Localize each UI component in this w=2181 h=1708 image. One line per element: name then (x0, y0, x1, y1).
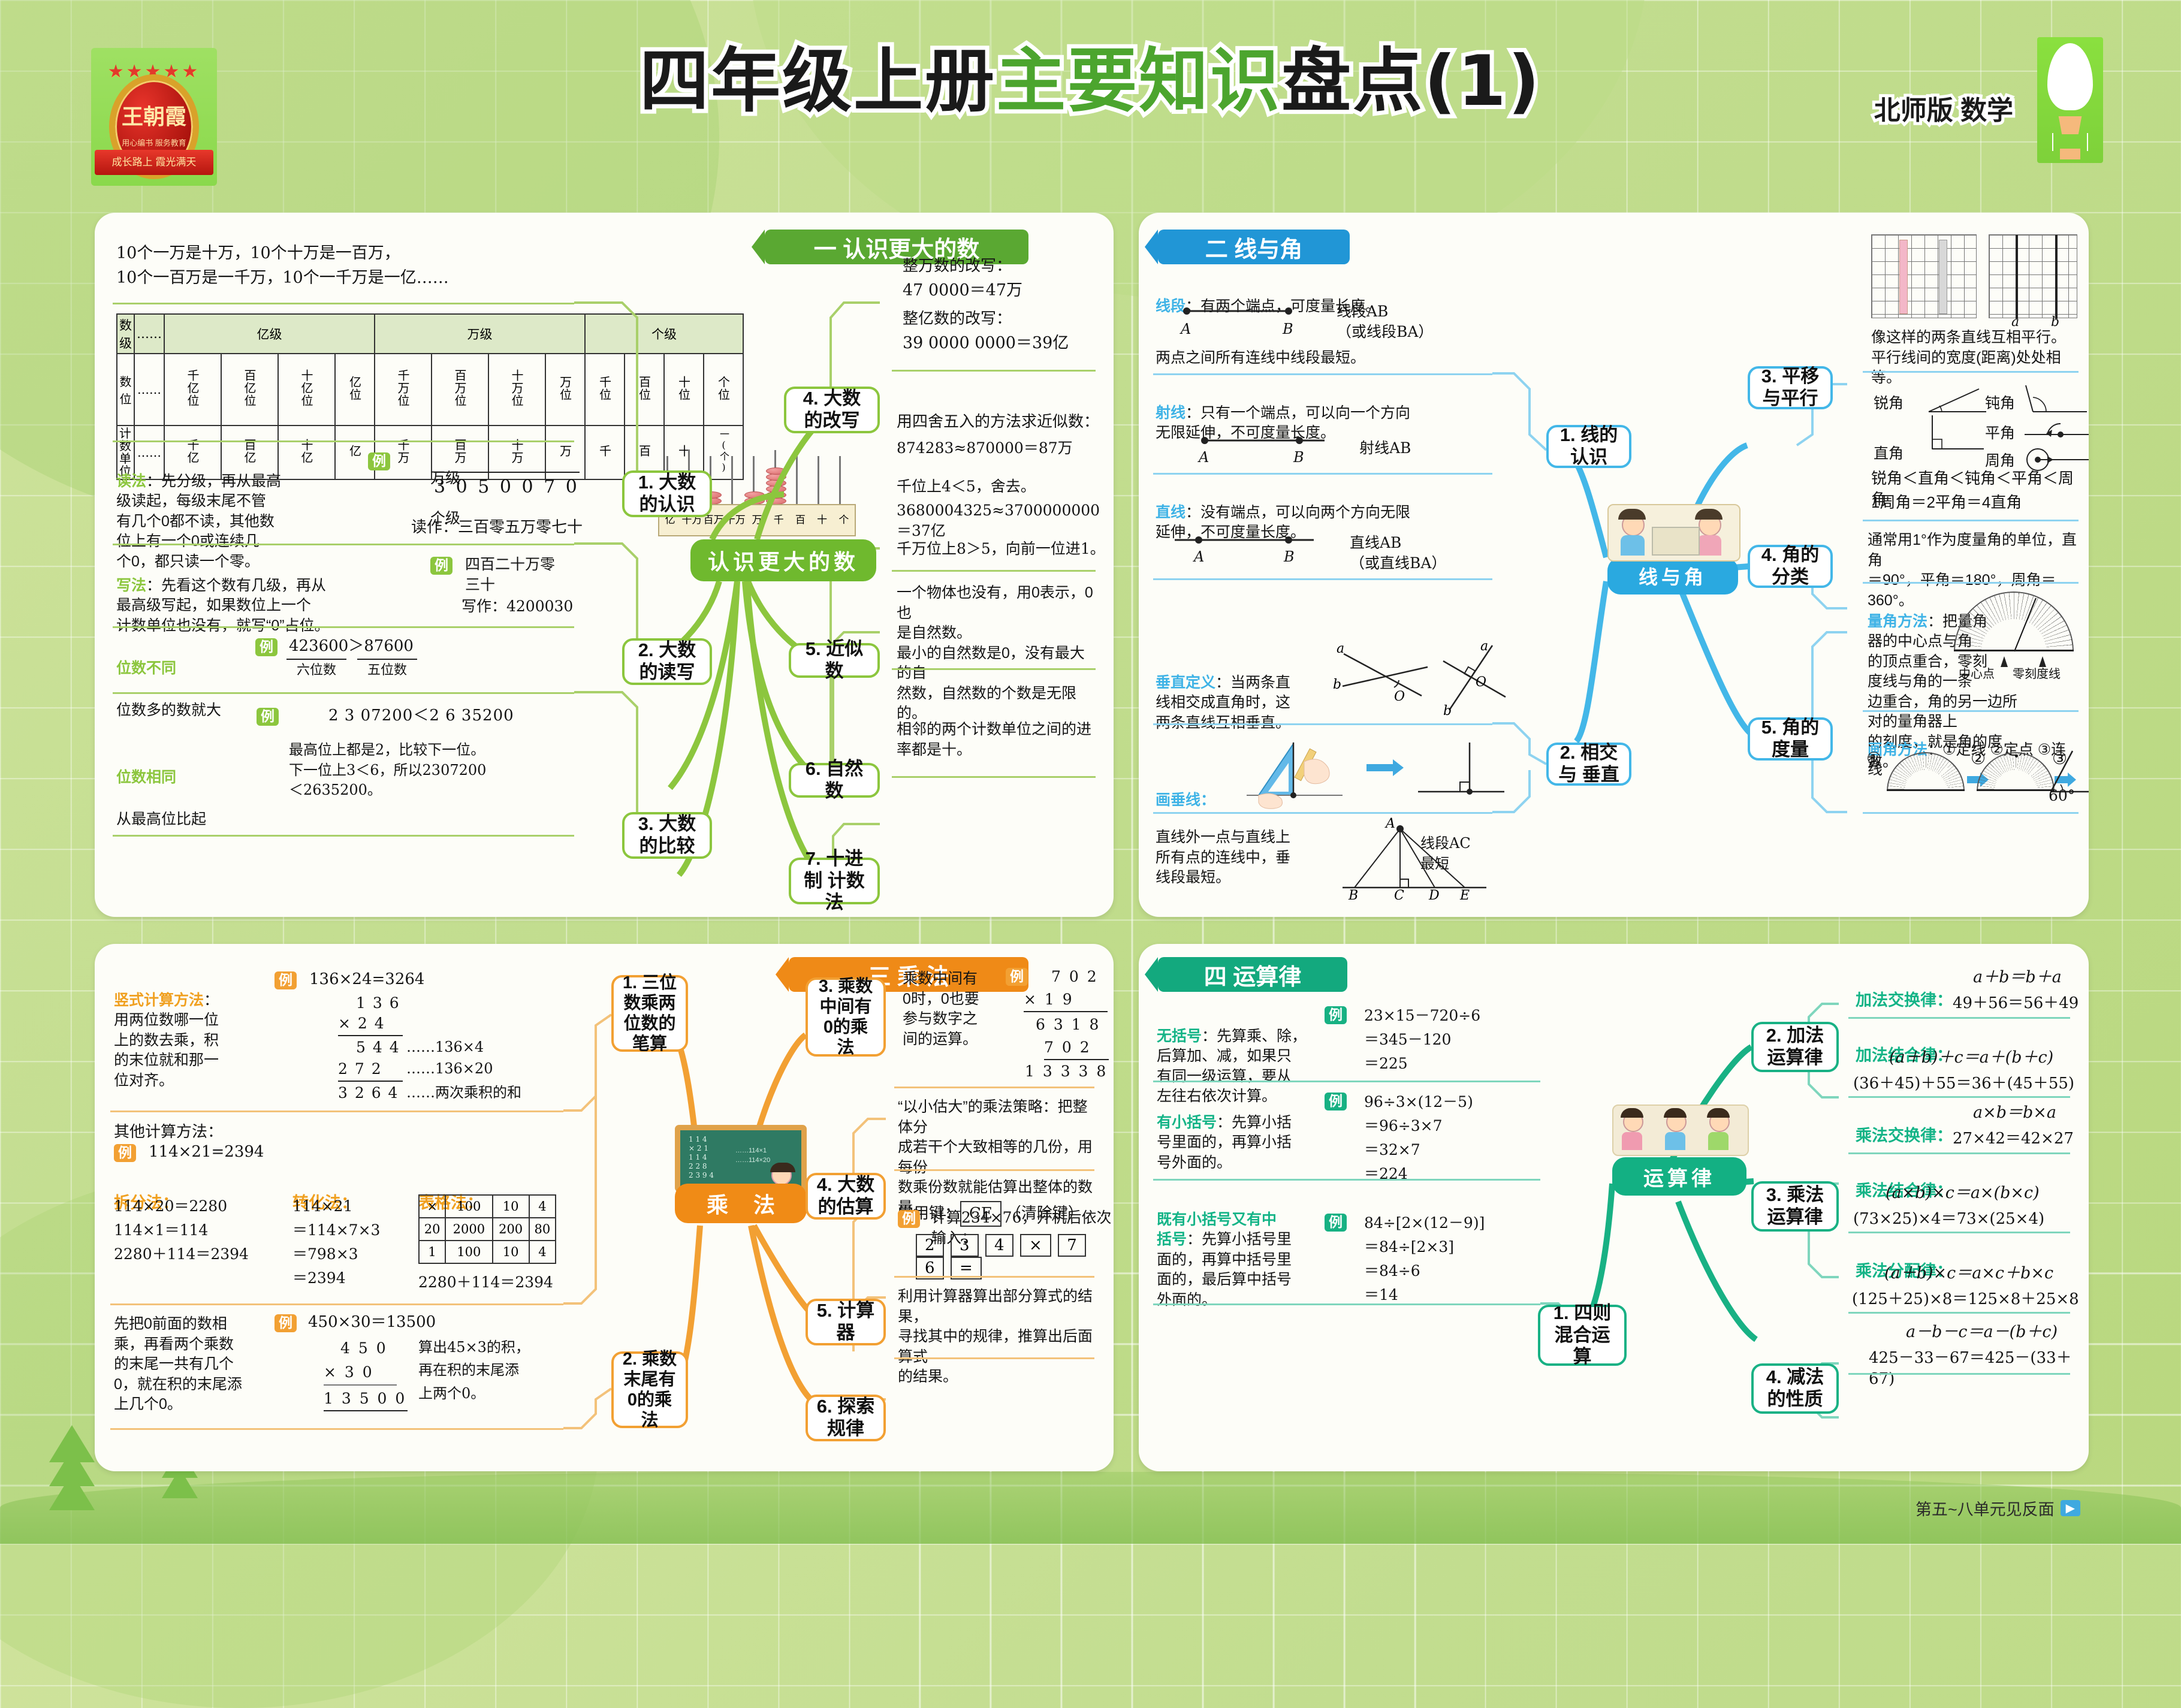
law-1-formula: (a＋b)＋c＝a＋(b＋c) (1889, 1047, 2053, 1069)
tz-line-1: 4 5 0 (340, 1338, 388, 1359)
law-3-formula: (a×b)×c＝a×(b×c) (1886, 1182, 2040, 1204)
write-method-body: ：先看这个数有几级，再从 最高级写起，如果数位上一个 计数单位也没有，就写“0”… (116, 577, 330, 634)
middle-zero-body: 乘数中间有 0时，0也要 参与数字之 间的运算。 (903, 969, 1016, 1049)
pv-digit-6: 十万位 (508, 369, 526, 407)
board-line-4: 2 2 8 (689, 1162, 714, 1171)
law-3-example: (73×25)×4＝73×(25×4) (1853, 1209, 2044, 1230)
line-name: 直线AB （或直线BA） (1350, 533, 1446, 574)
calculator-example-badge: 例 (898, 1210, 920, 1228)
rewrite-title-1: 整万数的改写： (903, 256, 1012, 277)
no-paren-example: 23×15－720÷6 ＝345－120 ＝225 (1364, 1004, 1480, 1076)
board-line-2: × 2 1 (689, 1144, 714, 1153)
compare-diff-body: 位数多的数就大 (116, 702, 221, 719)
pattern-rule: 利用计算器算出部分算式的结果， 寻找其中的规律，推算出后面算式 的结果。 (898, 1287, 1098, 1387)
pv-digit-9: 百位 (636, 376, 653, 401)
panel4-hub: 运算律 (1612, 1157, 1746, 1196)
no-paren-keyword: 无括号 (1157, 1028, 1202, 1045)
node-p4-1[interactable]: 1. 四则 混合运 算 (1538, 1305, 1627, 1366)
approx-line-1: 874283≈870000＝87万 (897, 438, 1073, 458)
calculator-key-sequence: 2 3 4 × 7 6 = (916, 1234, 1114, 1280)
tm-h0: × (419, 1195, 445, 1218)
node-p2-5[interactable]: 5. 角的 度量 (1748, 717, 1833, 761)
natural-number-text: 一个物体也没有，用0表示，0也 是自然数。 最小的自然数是0，没有最大的自 然数… (897, 583, 1099, 724)
tm-r1c2: 200 (493, 1218, 529, 1241)
vertical-note-4: ……136×20 (406, 1059, 493, 1078)
pv-digit-5: 百万位 (451, 369, 469, 407)
abacus-label-7: 十 (812, 505, 833, 535)
tm-r1c3: 80 (529, 1218, 556, 1241)
pv-dots-0: …… (134, 314, 164, 354)
node-p2-2[interactable]: 2. 相交与 垂直 (1546, 743, 1631, 786)
law-2-example: 27×42＝42×27 (1953, 1128, 2074, 1149)
vertical-line-1: 1 3 6 (356, 993, 400, 1013)
board-line-5: 2 3 9 4 (689, 1171, 714, 1180)
abacus-label-8: 个 (833, 505, 855, 535)
footer-arrow-icon: ▶ (2061, 1500, 2080, 1516)
rewrite-line-1: 47 0000＝47万 (903, 280, 1022, 301)
compare-same-keyword: 位数相同 (116, 769, 176, 786)
law-0-example: 49＋56＝56＋49 (1953, 993, 2079, 1014)
tm-h3: 4 (529, 1195, 556, 1218)
approx-note-1: 千位上4＜5，舍去。 (897, 476, 1036, 497)
board-line-1: 1 1 4 (689, 1135, 714, 1144)
transform-method-body: 114×21 ＝114×7×3 ＝798×3 ＝2394 (292, 1194, 380, 1290)
both-paren-badge: 例 (1325, 1214, 1347, 1232)
node-p4-2[interactable]: 2. 加法 运算律 (1751, 1022, 1839, 1072)
panel-lines-and-angles: 二 线与角 线段：有两个端点，可度量长度。 A B 线段AB （或线段BA） 两… (1139, 213, 2089, 917)
panel3-hub: 乘 法 (675, 1184, 807, 1223)
pv-digit-8: 千位 (596, 376, 614, 401)
svg-text:O: O (1476, 675, 1486, 690)
ray-label-b: B (1293, 448, 1304, 467)
pv-group-1: 万级 (375, 314, 585, 354)
write-method-keyword: 写法 (116, 577, 146, 594)
compare-same-digits: 位数相同 从最高位比起 (116, 746, 296, 830)
approx-line-2: 3680004325≈3700000000＝37亿 (897, 500, 1114, 541)
line-label-b: B (1284, 547, 1295, 566)
panel-operation-laws: 四 运算律 无括号：先算乘、除， 后算加、减，如果只 有同一级运算，要从 左往右… (1139, 944, 2089, 1471)
abacus-label-4: 万 (746, 505, 768, 535)
cmp2-expression: 2 3 07200＜2 6 35200 (328, 705, 514, 726)
abacus-label-6: 百 (789, 505, 811, 535)
segment-label-b: B (1283, 319, 1293, 339)
node-p4-4[interactable]: 4. 减法 的性质 (1751, 1363, 1839, 1414)
compare-diff-keyword: 位数不同 (116, 660, 176, 677)
svg-text:a: a (1480, 639, 1488, 654)
protractor-center-label: 中心点 (1959, 666, 1995, 682)
pv-group-0: 亿级 (164, 314, 375, 354)
draw-perp-label: 画垂线： (1156, 770, 1215, 810)
ray-body: ：只有一个端点，可以向一个方向 无限延伸，不可度量长度。 (1156, 405, 1410, 442)
node-p1-2[interactable]: 2. 大数 的读写 (622, 638, 712, 685)
rewrite-title-2: 整亿数的改写： (903, 309, 1012, 330)
table-method-grid: × 100 10 4 20 2000 200 80 1 100 10 4 (418, 1194, 556, 1264)
cmp1-expression: 423600＞87600 (289, 636, 414, 657)
pv-unit-7: 万 (557, 445, 574, 457)
svg-text:A: A (1384, 816, 1395, 831)
pv-digit-1: 百亿位 (241, 369, 258, 407)
pv-unit-8: 千 (596, 445, 614, 457)
calc-key-3[interactable]: × (1020, 1234, 1051, 1257)
draw-step-1-num: ① (1866, 747, 1881, 770)
law-0-name: 加法交换律： (1856, 968, 1953, 1011)
pv-group-2: 个级 (585, 314, 743, 354)
line-keyword: 直线 (1156, 504, 1185, 521)
trailing-zero-badge: 例 (274, 1314, 297, 1332)
segment-name: 线段AB （或线段BA） (1337, 301, 1433, 342)
footer-text: 第五~八单元见反面 (1915, 1496, 2055, 1520)
split-method-body: 114×20＝2280 114×1＝114 2280＋114＝2394 (114, 1194, 249, 1266)
read-eg-result: 读作：三百零五万零七十 (411, 517, 583, 538)
node-p1-3[interactable]: 3. 大数 的比较 (622, 812, 712, 859)
tm-r2c1: 100 (445, 1241, 492, 1263)
segment-keyword: 线段 (1156, 298, 1185, 315)
cmp1-sub-right: 五位数 (357, 659, 417, 679)
panel2-section-tag: 二 线与角 (1158, 230, 1350, 264)
tm-r2c2: 10 (493, 1241, 529, 1263)
students-illustration (1607, 504, 1740, 562)
node-p3-6[interactable]: 6. 探索 规律 (806, 1395, 886, 1441)
node-p3-3[interactable]: 3. 乘数 中间有 0的乘 法 (806, 977, 886, 1057)
panel-multiplication: 三 乘 法 竖式计算方法： 用两位数哪一位 上的数去乘，积 的末位就和那一 位对… (95, 944, 1114, 1471)
page-title: 四年级上册主要知识盘点(1) (0, 47, 2181, 116)
paren-badge: 例 (1325, 1093, 1347, 1110)
node-p1-5[interactable]: 5. 近似数 (789, 643, 880, 678)
approx-note-2: 千万位上8＞5，向前一位进1。 (897, 539, 1105, 559)
obtuse-angle-icon (2025, 384, 2089, 414)
svg-text:E: E (1459, 888, 1470, 903)
protractor-step-2 (1977, 752, 2055, 791)
perpendicular-diagram: a b O a b O (1332, 643, 1506, 721)
angle-right-label: 直角 (1874, 444, 1904, 464)
segment-label-a: A (1181, 319, 1191, 339)
svg-text:B: B (1348, 888, 1358, 903)
mz-line-5: 1 3 3 3 8 (1025, 1061, 1108, 1082)
tm-r1c1: 2000 (445, 1218, 492, 1241)
middle-zero-badge: 例 (1006, 968, 1028, 986)
vertical-example-badge: 例 (274, 971, 297, 989)
mz-line-4: 7 0 2 (1044, 1037, 1109, 1060)
paren-rule: 有小括号：先算小括 号里面的，再算小括 号外面的。 (1157, 1093, 1349, 1173)
trailing-zero-example: 450×30＝13500 (308, 1312, 436, 1333)
node-p1-6[interactable]: 6. 自然数 (789, 763, 880, 798)
node-p3-5[interactable]: 5. 计算 器 (806, 1299, 886, 1345)
angle-straight-label: 平角 (1985, 424, 2015, 444)
segment-def: 线段：有两个端点，可度量长度。 (1156, 276, 1491, 316)
vertical-line-4: 2 7 2 (338, 1059, 403, 1082)
node-p2-3[interactable]: 3. 平移 与平行 (1748, 366, 1833, 409)
panel1-hub: 认识更大的数 (690, 539, 876, 581)
law-0-formula: a＋b＝b＋a (1973, 967, 2062, 988)
abacus-label-5: 千 (768, 505, 789, 535)
both-paren-example: 84÷[2×(12－9)] ＝84÷[2×3] ＝84÷6 ＝14 (1364, 1211, 1485, 1307)
cmp2-explain: 最高位上都是2，比较下一位。 下一位上3＜6，所以2307200 ＜263520… (289, 740, 486, 801)
right-angle-icon (1926, 414, 1992, 454)
mz-line-3: 6 3 1 8 (1036, 1015, 1100, 1035)
drawn-angle-degrees: 60° (2049, 786, 2075, 806)
straight-angle-icon (2025, 419, 2089, 439)
draw-perp-keyword: 画垂线： (1156, 792, 1215, 808)
board-note-2: ……114×20 (735, 1157, 770, 1164)
law-4-example: (125＋25)×8＝125×8＋25×8 (1852, 1289, 2079, 1310)
no-paren-rule: 无括号：先算乘、除， 后算加、减，如果只 有同一级运算，要从 左往右依次计算。 (1157, 1006, 1343, 1107)
approx-title: 用四舍五入的方法求近似数： (897, 412, 1099, 433)
calc-key-0[interactable]: 2 (916, 1234, 944, 1257)
tm-h2: 10 (493, 1195, 529, 1218)
tm-r1c0: 20 (419, 1218, 445, 1241)
trailing-zero-body: 先把0前面的数相 乘，再看两个乘数 的末尾一共有几个 0，就在积的末尾添 上几个… (114, 1314, 294, 1415)
protractor-measure (1954, 592, 2074, 651)
segment-note: 两点之间所有连线中线段最短。 (1156, 348, 1491, 369)
write-example-badge: 例 (430, 557, 453, 575)
panel-bigger-numbers: 一 认识更大的数 10个一万是十万，10个十万是一百万， 10个一百万是一千万，… (95, 213, 1114, 917)
chalkboard-illustration: 1 1 4 × 2 1 1 1 4 2 2 8 2 3 9 4 ……114×1 … (675, 1125, 807, 1192)
svg-text:C: C (1394, 888, 1404, 903)
cmp2-example-badge: 例 (257, 708, 279, 726)
vertical-line-3: 5 4 4 (356, 1037, 400, 1058)
mz-line-1: 7 0 2 (1051, 967, 1099, 987)
law-5-example: 425－33－67＝425－(33＋67) (1869, 1348, 2089, 1390)
pv-digit-10: 十位 (675, 376, 693, 401)
both-paren-rule: 既有小括号又有中 括号：先算小括号里 面的，再算中括号里 面的，最后算中括号 外… (1157, 1190, 1343, 1310)
tm-h1: 100 (445, 1195, 492, 1218)
node-p1-1[interactable]: 1. 大数 的认识 (622, 470, 712, 517)
footer: 第五~八单元见反面 ▶ (1915, 1496, 2080, 1520)
panel2-hub: 线与角 (1607, 557, 1738, 595)
node-p4-3[interactable]: 3. 乘法 运算律 (1751, 1181, 1839, 1232)
vertical-note-3: ……136×4 (406, 1037, 484, 1057)
node-p3-1[interactable]: 1. 三位 数乘两 位数的 笔算 (611, 975, 688, 1052)
other-methods-title: 其他计算方法： (114, 1121, 223, 1142)
vertical-eg-title: 136×24=3264 (309, 969, 424, 990)
read-method: 读法：先分级，再从最高 级读起，每级末尾不管 有几个0都不读，其他数 位上有一个… (116, 451, 380, 572)
decimal-system-text: 相邻的两个计数单位之间的进 率都是十。 (897, 720, 1099, 760)
hot-air-balloon-icon (2037, 37, 2103, 163)
parallel-note: 像这样的两条直线互相平行。 平行线间的宽度(距离)处处相等。 (1871, 328, 2079, 388)
read-eg-number: 3 0 5 0 0 7 0 (434, 472, 580, 499)
law-2-name: 乘法交换律： (1856, 1103, 1953, 1146)
background-hill (0, 1472, 2181, 1544)
calc-key-2[interactable]: 4 (985, 1234, 1013, 1257)
perp-keyword: 垂直定义 (1156, 674, 1215, 691)
parallel-grid-pencils (1871, 234, 1977, 318)
tm-r2c3: 4 (529, 1241, 556, 1263)
cmp1-sub-left: 六位数 (286, 659, 346, 679)
svg-text:O: O (1394, 689, 1405, 704)
law-1-example: (36＋45)＋55＝36＋(45＋55) (1853, 1073, 2074, 1094)
compare-same-body: 从最高位比起 (116, 811, 206, 828)
pv-digit-4: 千万位 (394, 369, 412, 407)
write-method: 写法：先看这个数有几级，再从 最高级写起，如果数位上一个 计数单位也没有，就写“… (116, 556, 440, 636)
node-p1-4[interactable]: 4. 大数 的改写 (784, 387, 880, 433)
page-title-part3: 盘点(1) (1281, 41, 1542, 122)
mz-line-2: × 1 9 (1024, 989, 1108, 1012)
angle-acute-label: 锐角 (1874, 394, 1904, 414)
law-5-formula: a－b－c＝a－(b＋c) (1906, 1321, 2058, 1343)
pv-dots-1: …… (134, 354, 164, 426)
paren-keyword: 有小括号 (1157, 1114, 1217, 1131)
draw-perpendicular-illustration (1247, 738, 1510, 810)
pv-digit-0: 千亿位 (184, 369, 201, 407)
measure-keyword: 量角方法 (1868, 613, 1927, 630)
pv-digit-7: 万位 (557, 376, 574, 401)
abacus-label-3: 十万 (725, 505, 746, 535)
angle-obtuse-label: 钝角 (1985, 394, 2015, 414)
page-title-part1: 四年级上册 (639, 41, 996, 122)
node-p1-7[interactable]: 7. 十进制 计数法 (789, 858, 880, 904)
paren-example: 96÷3×(12－5) ＝96÷3×7 ＝32×7 ＝224 (1364, 1090, 1473, 1186)
tm-r2c0: 1 (419, 1241, 445, 1263)
line-label-a: A (1194, 547, 1204, 566)
edition-label: 北师版 数学 (1874, 89, 2013, 127)
shortest-label: 线段AC 最短 (1420, 834, 1471, 874)
rewrite-line-2: 39 0000 0000＝39亿 (903, 333, 1069, 354)
perpendicular-def: 垂直定义：当两条直 线相交成直角时，这 两条直线互相垂直。 (1156, 653, 1341, 733)
calc-key-1[interactable]: 3 (951, 1234, 979, 1257)
law-2-formula: a×b＝b×a (1973, 1102, 2056, 1124)
board-note-1: ……114×1 (735, 1147, 767, 1154)
tz-note: 算出45×3的积， 再在积的末尾添 上两个0。 (418, 1336, 530, 1405)
vertical-line-5: 3 2 6 4 (338, 1083, 399, 1103)
ray-name: 射线AB (1359, 438, 1411, 458)
node-p3-2[interactable]: 2. 乘数 末尾有 0的乘 法 (611, 1351, 688, 1428)
write-eg-text: 四百二十万零 三十 (465, 554, 555, 595)
students-illustration-2 (1612, 1105, 1749, 1156)
read-example-badge: 例 (368, 452, 390, 470)
tz-line-2: × 3 0 (324, 1362, 397, 1386)
logo-ribbon-text: 成长路上 霞光满天 (95, 150, 213, 175)
ray-keyword: 射线 (1156, 405, 1185, 421)
calc-key-4[interactable]: 7 (1058, 1234, 1086, 1257)
logo-subtitle: 用心编书 服务教育 (122, 137, 186, 148)
svg-text:b: b (1443, 704, 1452, 719)
pv-unit-9: 百 (636, 445, 653, 457)
pv-digit-2: 十亿位 (298, 369, 315, 407)
node-p3-4[interactable]: 4. 大数 的估算 (806, 1173, 886, 1220)
other-methods-badge: 例 (114, 1144, 136, 1162)
page-title-part2: 主要知识 (996, 41, 1281, 122)
vertical-line-2: × 2 4 (338, 1013, 403, 1036)
ray-label-a: A (1199, 448, 1209, 467)
page-header: ★★★★★ 王朝霞 用心编书 服务教育 成长路上 霞光满天 四年级上册主要知识盘… (0, 0, 2181, 201)
no-paren-badge: 例 (1325, 1006, 1347, 1024)
round-angle-icon (2023, 446, 2089, 470)
vertical-calc-keyword: 竖式计算方法 (114, 992, 204, 1009)
protractor-step-1 (1887, 752, 1965, 791)
cmp1-example-badge: 例 (255, 638, 277, 656)
panel4-section-tag: 四 运算律 (1158, 957, 1347, 992)
pv-row-head-1: 数位 (117, 354, 134, 426)
draw-step-3-num: ③ (2052, 747, 2067, 770)
law-4-formula: (a＋b)×c＝a×c＋b×c (1884, 1263, 2053, 1284)
board-line-3: 1 1 4 (689, 1153, 714, 1162)
tz-line-3: 1 3 5 0 0 (324, 1389, 408, 1411)
shortest-note: 直线外一点与直线上 所有点的连线中，垂 线段最短。 (1156, 828, 1335, 888)
protractor-zero-label: 零刻度线 (2013, 666, 2061, 682)
angle-equivalence: 1周角＝2平角＝4直角 (1871, 492, 2022, 513)
ray-def: 射线：只有一个端点，可以向一个方向 无限延伸，不可度量长度。 (1156, 383, 1491, 443)
node-p2-1[interactable]: 1. 线的 认识 (1546, 425, 1631, 468)
table-method-sum: 2280＋114＝2394 (418, 1272, 553, 1293)
node-p2-4[interactable]: 4. 角的 分类 (1748, 545, 1833, 588)
svg-text:D: D (1428, 888, 1440, 903)
write-eg-result: 写作：4200030 (461, 596, 573, 617)
other-methods-example: 114×21=2394 (149, 1142, 264, 1163)
parallel-grid-lines (1989, 234, 2077, 318)
pv-digit-3: 亿位 (346, 376, 364, 401)
pv-row-head-0: 数级 (117, 314, 134, 354)
pv-digit-11: 个位 (715, 376, 732, 401)
vertical-note-5: ……两次乘积的和 (406, 1083, 521, 1102)
panel1-intro: 10个一万是十万，10个十万是一百万， 10个一百万是一千万，10个一千万是一亿… (116, 242, 572, 290)
read-method-keyword: 读法 (116, 473, 146, 490)
